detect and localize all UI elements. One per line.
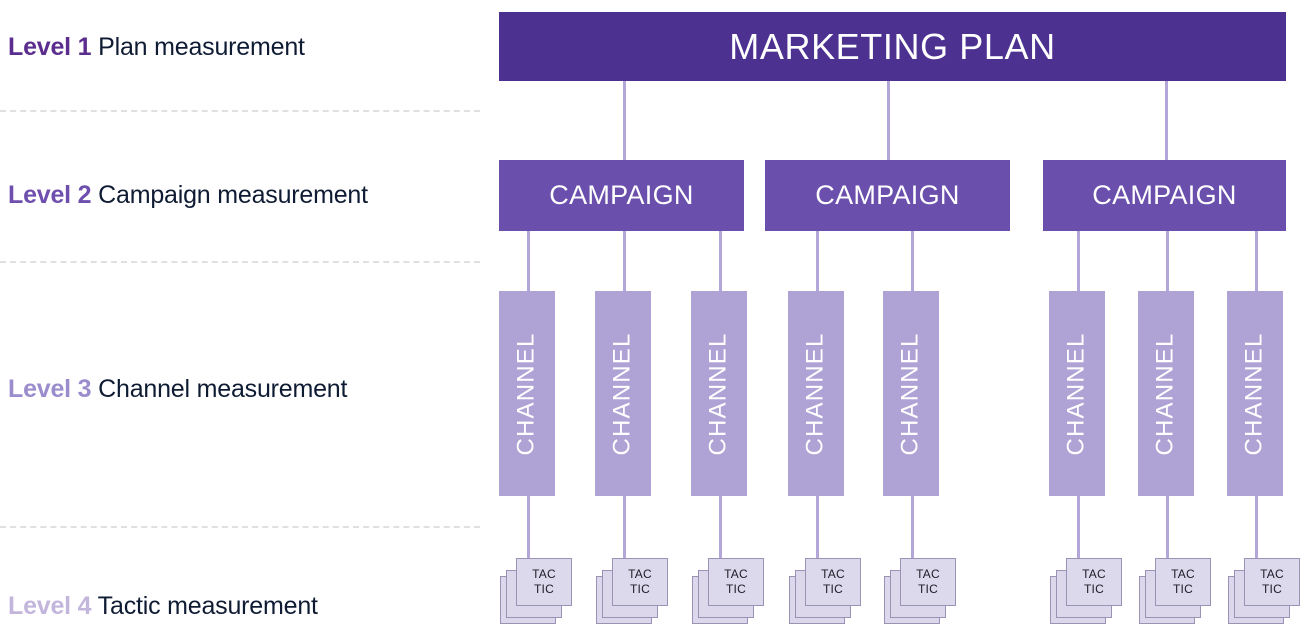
level-1-label: Level 1 Plan measurement <box>8 33 305 62</box>
channel-box-7[interactable]: CHANNEL <box>1138 291 1194 496</box>
connector-campaign-1-channel-2 <box>623 230 626 291</box>
channel-box-2[interactable]: CHANNEL <box>595 291 651 496</box>
campaign-box-1[interactable]: CAMPAIGN <box>499 160 744 231</box>
campaign-label-2: CAMPAIGN <box>815 180 959 211</box>
channel-label-1: CHANNEL <box>513 332 541 455</box>
campaign-box-2[interactable]: CAMPAIGN <box>765 160 1010 231</box>
channel-label-8: CHANNEL <box>1241 332 1269 455</box>
tactic-stack-3[interactable]: TAC TIC <box>692 558 766 624</box>
connector-channel-4-tactic-4 <box>816 495 819 558</box>
tactic-stack-2[interactable]: TAC TIC <box>596 558 670 624</box>
tactic-stack-4[interactable]: TAC TIC <box>789 558 863 624</box>
channel-box-6[interactable]: CHANNEL <box>1049 291 1105 496</box>
level-2-description: Campaign measurement <box>91 181 368 209</box>
campaign-label-3: CAMPAIGN <box>1092 180 1236 211</box>
connector-channel-2-tactic-2 <box>623 495 626 558</box>
tactic-card-front-1[interactable]: TAC TIC <box>516 558 572 606</box>
tactic-label-line1-6: TAC <box>1082 567 1106 582</box>
connector-channel-5-tactic-5 <box>911 495 914 558</box>
tactic-label-line2-1: TIC <box>534 582 554 597</box>
diagram-canvas: Level 1 Plan measurement Level 2 Campaig… <box>0 0 1300 633</box>
tactic-label-line2-2: TIC <box>630 582 650 597</box>
connector-campaign-3-channel-6 <box>1077 230 1080 291</box>
tactic-stack-5[interactable]: TAC TIC <box>884 558 958 624</box>
tactic-label-line1-4: TAC <box>821 567 845 582</box>
tactic-card-front-5[interactable]: TAC TIC <box>900 558 956 606</box>
connector-campaign-2-channel-5 <box>911 230 914 291</box>
tactic-stack-8[interactable]: TAC TIC <box>1228 558 1300 624</box>
tactic-label-line1-2: TAC <box>628 567 652 582</box>
connector-channel-6-tactic-6 <box>1077 495 1080 558</box>
tactic-label-line1-8: TAC <box>1260 567 1284 582</box>
connector-channel-3-tactic-3 <box>719 495 722 558</box>
tactic-card-front-3[interactable]: TAC TIC <box>708 558 764 606</box>
marketing-plan-box[interactable]: MARKETING PLAN <box>499 12 1286 81</box>
channel-label-7: CHANNEL <box>1152 332 1180 455</box>
level-4-description: Tactic measurement <box>91 592 317 620</box>
tactic-label-line1-5: TAC <box>916 567 940 582</box>
level-3-label: Level 3 Channel measurement <box>8 375 347 404</box>
tactic-label-line2-3: TIC <box>726 582 746 597</box>
divider-level-2-3 <box>0 261 480 263</box>
tactic-card-front-8[interactable]: TAC TIC <box>1244 558 1300 606</box>
level-3-number: Level 3 <box>8 375 91 403</box>
tactic-card-front-4[interactable]: TAC TIC <box>805 558 861 606</box>
campaign-box-3[interactable]: CAMPAIGN <box>1043 160 1286 231</box>
connector-campaign-1-channel-3 <box>719 230 722 291</box>
connector-plan-campaign-1 <box>623 80 626 161</box>
channel-box-5[interactable]: CHANNEL <box>883 291 939 496</box>
level-3-description: Channel measurement <box>91 375 347 403</box>
tactic-label-line1-1: TAC <box>532 567 556 582</box>
tactic-stack-1[interactable]: TAC TIC <box>500 558 574 624</box>
connector-channel-8-tactic-8 <box>1255 495 1258 558</box>
tactic-label-line2-4: TIC <box>823 582 843 597</box>
channel-box-4[interactable]: CHANNEL <box>788 291 844 496</box>
marketing-plan-label: MARKETING PLAN <box>729 26 1055 68</box>
channel-label-2: CHANNEL <box>609 332 637 455</box>
connector-campaign-2-channel-4 <box>816 230 819 291</box>
level-1-number: Level 1 <box>8 33 91 61</box>
connector-plan-campaign-2 <box>887 80 890 161</box>
divider-level-3-4 <box>0 526 480 528</box>
tactic-label-line2-8: TIC <box>1262 582 1282 597</box>
channel-box-8[interactable]: CHANNEL <box>1227 291 1283 496</box>
campaign-label-1: CAMPAIGN <box>549 180 693 211</box>
level-1-description: Plan measurement <box>91 33 304 61</box>
channel-box-1[interactable]: CHANNEL <box>499 291 555 496</box>
connector-channel-1-tactic-1 <box>527 495 530 558</box>
level-2-label: Level 2 Campaign measurement <box>8 181 368 210</box>
tactic-label-line1-7: TAC <box>1171 567 1195 582</box>
tactic-card-front-2[interactable]: TAC TIC <box>612 558 668 606</box>
tactic-label-line1-3: TAC <box>724 567 748 582</box>
channel-label-3: CHANNEL <box>705 332 733 455</box>
channel-label-5: CHANNEL <box>897 332 925 455</box>
divider-level-1-2 <box>0 110 480 112</box>
channel-label-4: CHANNEL <box>802 332 830 455</box>
channel-label-6: CHANNEL <box>1063 332 1091 455</box>
tactic-stack-6[interactable]: TAC TIC <box>1050 558 1124 624</box>
connector-campaign-1-channel-1 <box>527 230 530 291</box>
connector-plan-campaign-3 <box>1165 80 1168 161</box>
tactic-label-line2-7: TIC <box>1173 582 1193 597</box>
tactic-card-front-7[interactable]: TAC TIC <box>1155 558 1211 606</box>
tactic-card-front-6[interactable]: TAC TIC <box>1066 558 1122 606</box>
level-4-label: Level 4 Tactic measurement <box>8 592 318 621</box>
tactic-label-line2-6: TIC <box>1084 582 1104 597</box>
channel-box-3[interactable]: CHANNEL <box>691 291 747 496</box>
connector-campaign-3-channel-8 <box>1255 230 1258 291</box>
tactic-stack-7[interactable]: TAC TIC <box>1139 558 1213 624</box>
level-2-number: Level 2 <box>8 181 91 209</box>
connector-channel-7-tactic-7 <box>1166 495 1169 558</box>
connector-campaign-3-channel-7 <box>1166 230 1169 291</box>
tactic-label-line2-5: TIC <box>918 582 938 597</box>
level-4-number: Level 4 <box>8 592 91 620</box>
